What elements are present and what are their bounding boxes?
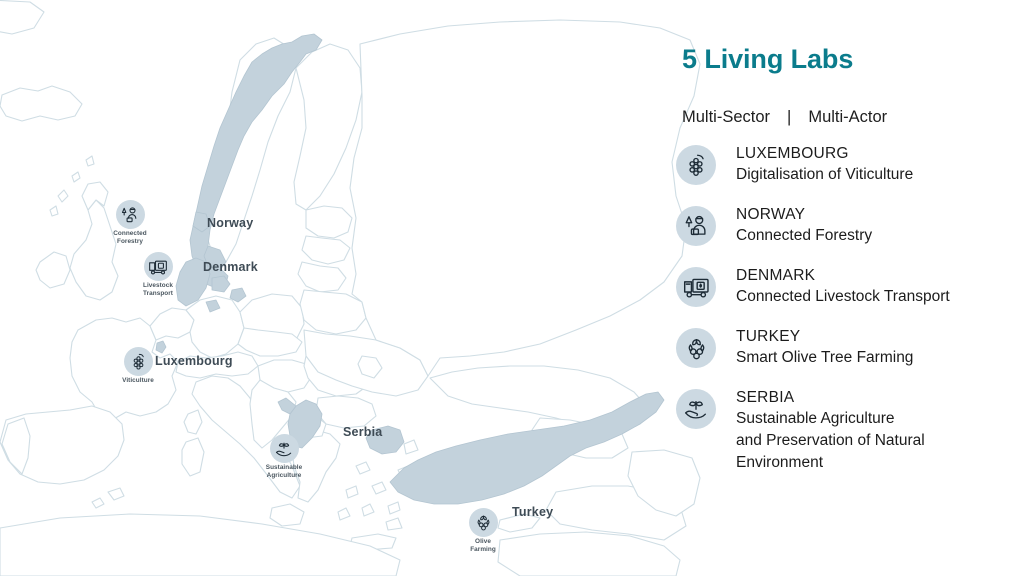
lab-description: Smart Olive Tree Farming: [736, 347, 913, 369]
map-marker-olive-farming[interactable]: Olive Farming: [448, 508, 518, 553]
seedling-hand-icon: [676, 389, 716, 429]
panel-subtitle: Multi-Sector | Multi-Actor: [682, 108, 887, 127]
list-item-text: LUXEMBOURG Digitalisation of Viticulture: [736, 142, 913, 186]
map-label-turkey: Turkey: [512, 505, 553, 519]
lab-description: Digitalisation of Viticulture: [736, 164, 913, 186]
infographic-root: Norway Denmark Luxembourg Serbia Turkey …: [0, 0, 1024, 576]
list-item-luxembourg[interactable]: LUXEMBOURG Digitalisation of Viticulture: [676, 142, 1024, 186]
map-marker-viticulture[interactable]: Viticulture: [103, 347, 173, 385]
lab-country-name: DENMARK: [736, 265, 950, 286]
lab-country-name: TURKEY: [736, 326, 913, 347]
map-marker-sustainable-agriculture[interactable]: Sustainable Agriculture: [249, 434, 319, 479]
map-country-outlines: [0, 0, 700, 576]
list-item-serbia[interactable]: SERBIA Sustainable Agriculture and Prese…: [676, 386, 1024, 474]
map-marker-caption: Connected Forestry: [113, 230, 146, 245]
list-item-text: NORWAY Connected Forestry: [736, 203, 872, 247]
lab-description: Sustainable Agriculture and Preservation…: [736, 408, 925, 474]
list-item-denmark[interactable]: DENMARK Connected Livestock Transport: [676, 264, 1024, 308]
map-label-denmark: Denmark: [203, 260, 258, 274]
subtitle-multi-sector: Multi-Sector: [682, 108, 770, 127]
map-marker-connected-forestry[interactable]: Connected Forestry: [95, 200, 165, 245]
grapes-icon: [124, 347, 153, 376]
olive-branch-icon: [469, 508, 498, 537]
list-item-text: DENMARK Connected Livestock Transport: [736, 264, 950, 308]
subtitle-separator: |: [787, 108, 791, 127]
lab-country-name: LUXEMBOURG: [736, 143, 913, 164]
forestry-worker-icon: [676, 206, 716, 246]
page-title: 5 Living Labs: [682, 44, 853, 75]
living-labs-panel: 5 Living Labs Multi-Sector | Multi-Actor: [676, 0, 1024, 576]
lab-country-name: SERBIA: [736, 387, 925, 408]
livestock-truck-icon: [676, 267, 716, 307]
list-item-norway[interactable]: NORWAY Connected Forestry: [676, 203, 1024, 247]
list-item-turkey[interactable]: TURKEY Smart Olive Tree Farming: [676, 325, 1024, 369]
lab-description: Connected Livestock Transport: [736, 286, 950, 308]
map-marker-caption: Viticulture: [122, 377, 154, 385]
map-marker-livestock-transport[interactable]: Livestock Transport: [123, 252, 193, 297]
livestock-truck-icon: [144, 252, 173, 281]
olive-branch-icon: [676, 328, 716, 368]
lab-description: Connected Forestry: [736, 225, 872, 247]
map-marker-caption: Sustainable Agriculture: [266, 464, 302, 479]
map-label-norway: Norway: [207, 216, 253, 230]
map-marker-caption: Livestock Transport: [143, 282, 173, 297]
map-label-serbia: Serbia: [343, 425, 382, 439]
list-item-text: TURKEY Smart Olive Tree Farming: [736, 325, 913, 369]
map-marker-caption: Olive Farming: [470, 538, 496, 553]
lab-country-name: NORWAY: [736, 204, 872, 225]
grapes-icon: [676, 145, 716, 185]
forestry-worker-icon: [116, 200, 145, 229]
list-item-text: SERBIA Sustainable Agriculture and Prese…: [736, 386, 925, 474]
living-labs-list: LUXEMBOURG Digitalisation of Viticulture…: [676, 142, 1024, 491]
seedling-hand-icon: [270, 434, 299, 463]
subtitle-multi-actor: Multi-Actor: [808, 108, 887, 127]
